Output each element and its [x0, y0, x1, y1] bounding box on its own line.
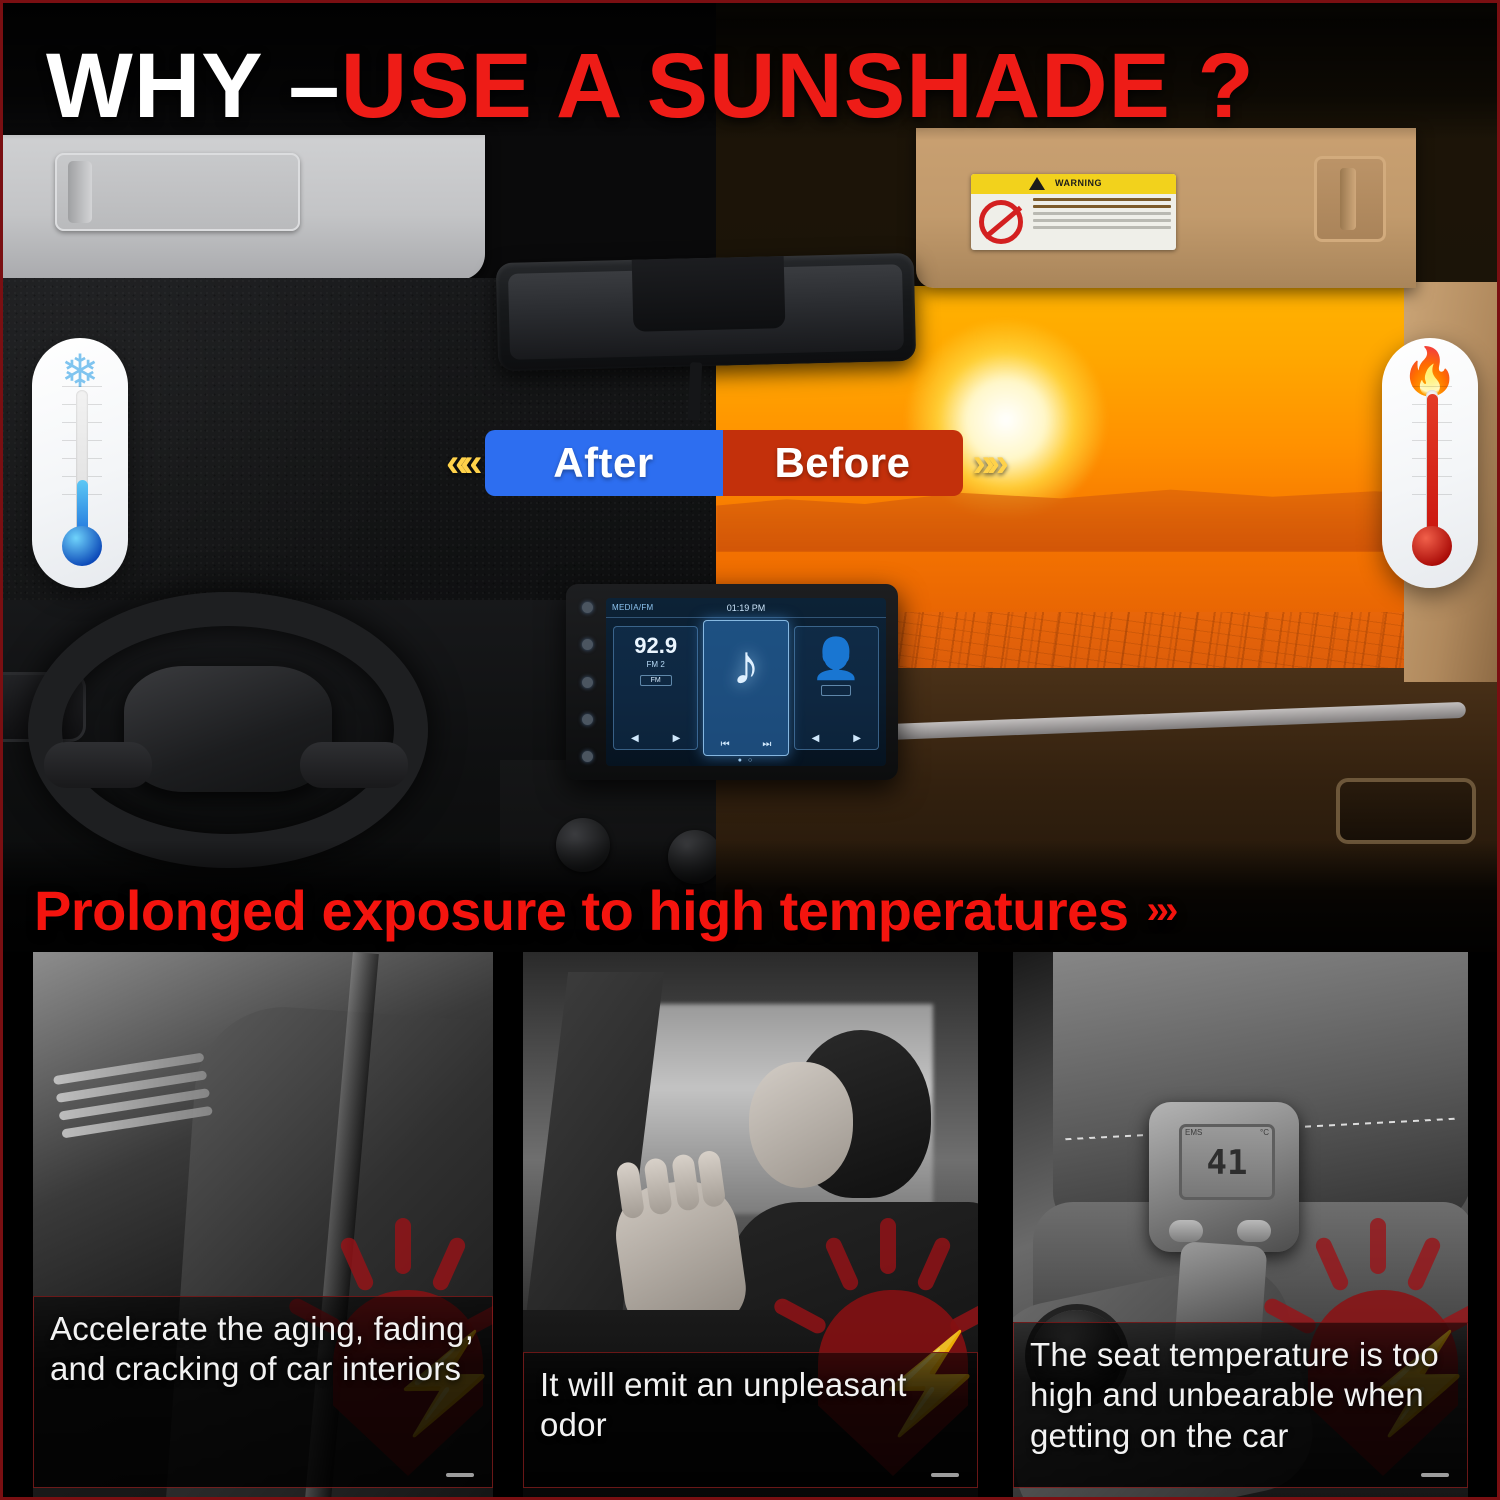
title-red-part: USE A SUNSHADE ?: [341, 40, 1255, 132]
head-unit-home-icon[interactable]: [582, 639, 593, 650]
sun-visor-beige: WARNING: [916, 128, 1416, 288]
radio-card[interactable]: 92.9 FM 2 FM ◀ ▶: [613, 626, 698, 750]
radio-next-icon[interactable]: ▶: [673, 733, 681, 744]
head-unit-settings-icon[interactable]: [582, 714, 593, 725]
head-unit-screen[interactable]: MEDIA/FM 01:19 PM 92.9 FM 2 FM ◀ ▶ ♪: [606, 598, 886, 766]
thermometer-mercury-hot: [1427, 394, 1438, 546]
rearview-mirror: [496, 253, 917, 371]
right-chevrons-icon: »»: [963, 441, 1012, 486]
phone-controls[interactable]: ◀ ▶: [795, 733, 878, 744]
air-vent-right: [1336, 778, 1476, 844]
phone-next-icon[interactable]: ▶: [853, 733, 861, 744]
left-chevrons-icon: ««: [436, 441, 485, 486]
warning-label-heading: WARNING: [1055, 178, 1102, 188]
no-child-seat-icon: [979, 200, 1023, 244]
dashboard-vents: [53, 1053, 213, 1140]
head-unit-button-rail[interactable]: [574, 602, 600, 762]
radio-band: FM 2: [647, 660, 665, 669]
phone-card[interactable]: 👤 ◀ ▶: [794, 626, 879, 750]
head-unit-menu-icon[interactable]: [582, 751, 593, 762]
ir-display-labels: EMS °C: [1185, 1128, 1269, 1137]
head-unit-page-dots: ● ○: [606, 757, 886, 764]
caption-text-1: Accelerate the aging, fading, and cracki…: [34, 1297, 492, 1396]
thermometer-bulb-hot: [1412, 526, 1452, 566]
visor-ticket-pocket: [1314, 156, 1386, 242]
media-card[interactable]: ♪ ⏮ ⏭: [703, 620, 788, 756]
title-white-part: WHY –: [46, 40, 341, 132]
radio-prev-icon[interactable]: ◀: [631, 733, 639, 744]
caption-dash-2: [931, 1473, 959, 1477]
caption-dash-3: [1421, 1473, 1449, 1477]
radio-frequency: 92.9: [634, 635, 677, 657]
banner-arrows-icon: ›››: [1146, 888, 1174, 933]
caption-text-2: It will emit an unpleasant odor: [524, 1353, 977, 1452]
head-unit-card-row: 92.9 FM 2 FM ◀ ▶ ♪ ⏮ ⏭: [606, 618, 886, 758]
heat-warning-banner: Prolonged exposure to high temperatures …: [0, 868, 1500, 952]
phone-contact-chip[interactable]: [821, 685, 851, 696]
infographic-page: WARNING: [0, 0, 1500, 1500]
media-transport-controls[interactable]: ⏮ ⏭: [704, 739, 787, 750]
after-pill[interactable]: After: [485, 430, 723, 496]
ir-button-left[interactable]: [1169, 1220, 1203, 1242]
phone-prev-icon[interactable]: ◀: [812, 733, 820, 744]
before-pill[interactable]: Before: [723, 430, 963, 496]
ir-temperature-reading: 41: [1179, 1146, 1275, 1180]
caption-box-3: The seat temperature is too high and unb…: [1013, 1322, 1468, 1488]
steering-control-right: [300, 742, 408, 788]
caption-dash-1: [446, 1473, 474, 1477]
head-unit-power-icon[interactable]: [582, 602, 593, 613]
sun-visor-shaded: [0, 135, 485, 280]
caption-box-1: Accelerate the aging, fading, and cracki…: [33, 1296, 493, 1488]
page-title: WHY – USE A SUNSHADE ?: [0, 34, 1500, 138]
ir-label-unit: °C: [1260, 1128, 1269, 1137]
caption-text-3: The seat temperature is too high and unb…: [1014, 1323, 1467, 1462]
heat-warning-text: Prolonged exposure to high temperatures: [34, 878, 1128, 943]
infotainment-head-unit[interactable]: MEDIA/FM 01:19 PM 92.9 FM 2 FM ◀ ▶ ♪: [566, 584, 898, 780]
ir-thermometer-display: EMS °C 41: [1179, 1124, 1275, 1200]
radio-seek-controls[interactable]: ◀ ▶: [614, 733, 697, 744]
media-next-icon[interactable]: ⏭: [762, 739, 771, 750]
warning-label-text-lines: [1033, 198, 1171, 233]
head-unit-status-bar: MEDIA/FM 01:19 PM: [606, 598, 886, 618]
airbag-warning-label: WARNING: [971, 174, 1176, 250]
ir-button-right[interactable]: [1237, 1220, 1271, 1242]
warning-label-header: WARNING: [971, 174, 1176, 194]
hero-comparison-scene: WARNING: [0, 0, 1500, 952]
music-note-icon: ♪: [732, 641, 760, 689]
radio-preset-chip[interactable]: FM: [640, 675, 672, 686]
man-face: [749, 1062, 853, 1188]
visor-clip: [68, 161, 92, 223]
mirror-housing: [632, 256, 786, 332]
warning-triangle-icon: [1029, 177, 1045, 190]
cold-thermometer-badge: ❄: [32, 338, 128, 588]
media-prev-icon[interactable]: ⏮: [721, 739, 730, 750]
hot-thermometer-badge: 🔥: [1382, 338, 1478, 588]
person-icon: 👤: [811, 639, 861, 679]
before-after-toggle[interactable]: «« After Before »»: [436, 430, 1011, 496]
caption-box-2: It will emit an unpleasant odor: [523, 1352, 978, 1488]
thermometer-bulb-cold: [62, 526, 102, 566]
ir-label-emissivity: EMS: [1185, 1128, 1202, 1137]
steering-control-left: [44, 742, 152, 788]
head-unit-clock: 01:19 PM: [606, 603, 886, 613]
head-unit-media-icon[interactable]: [582, 677, 593, 688]
